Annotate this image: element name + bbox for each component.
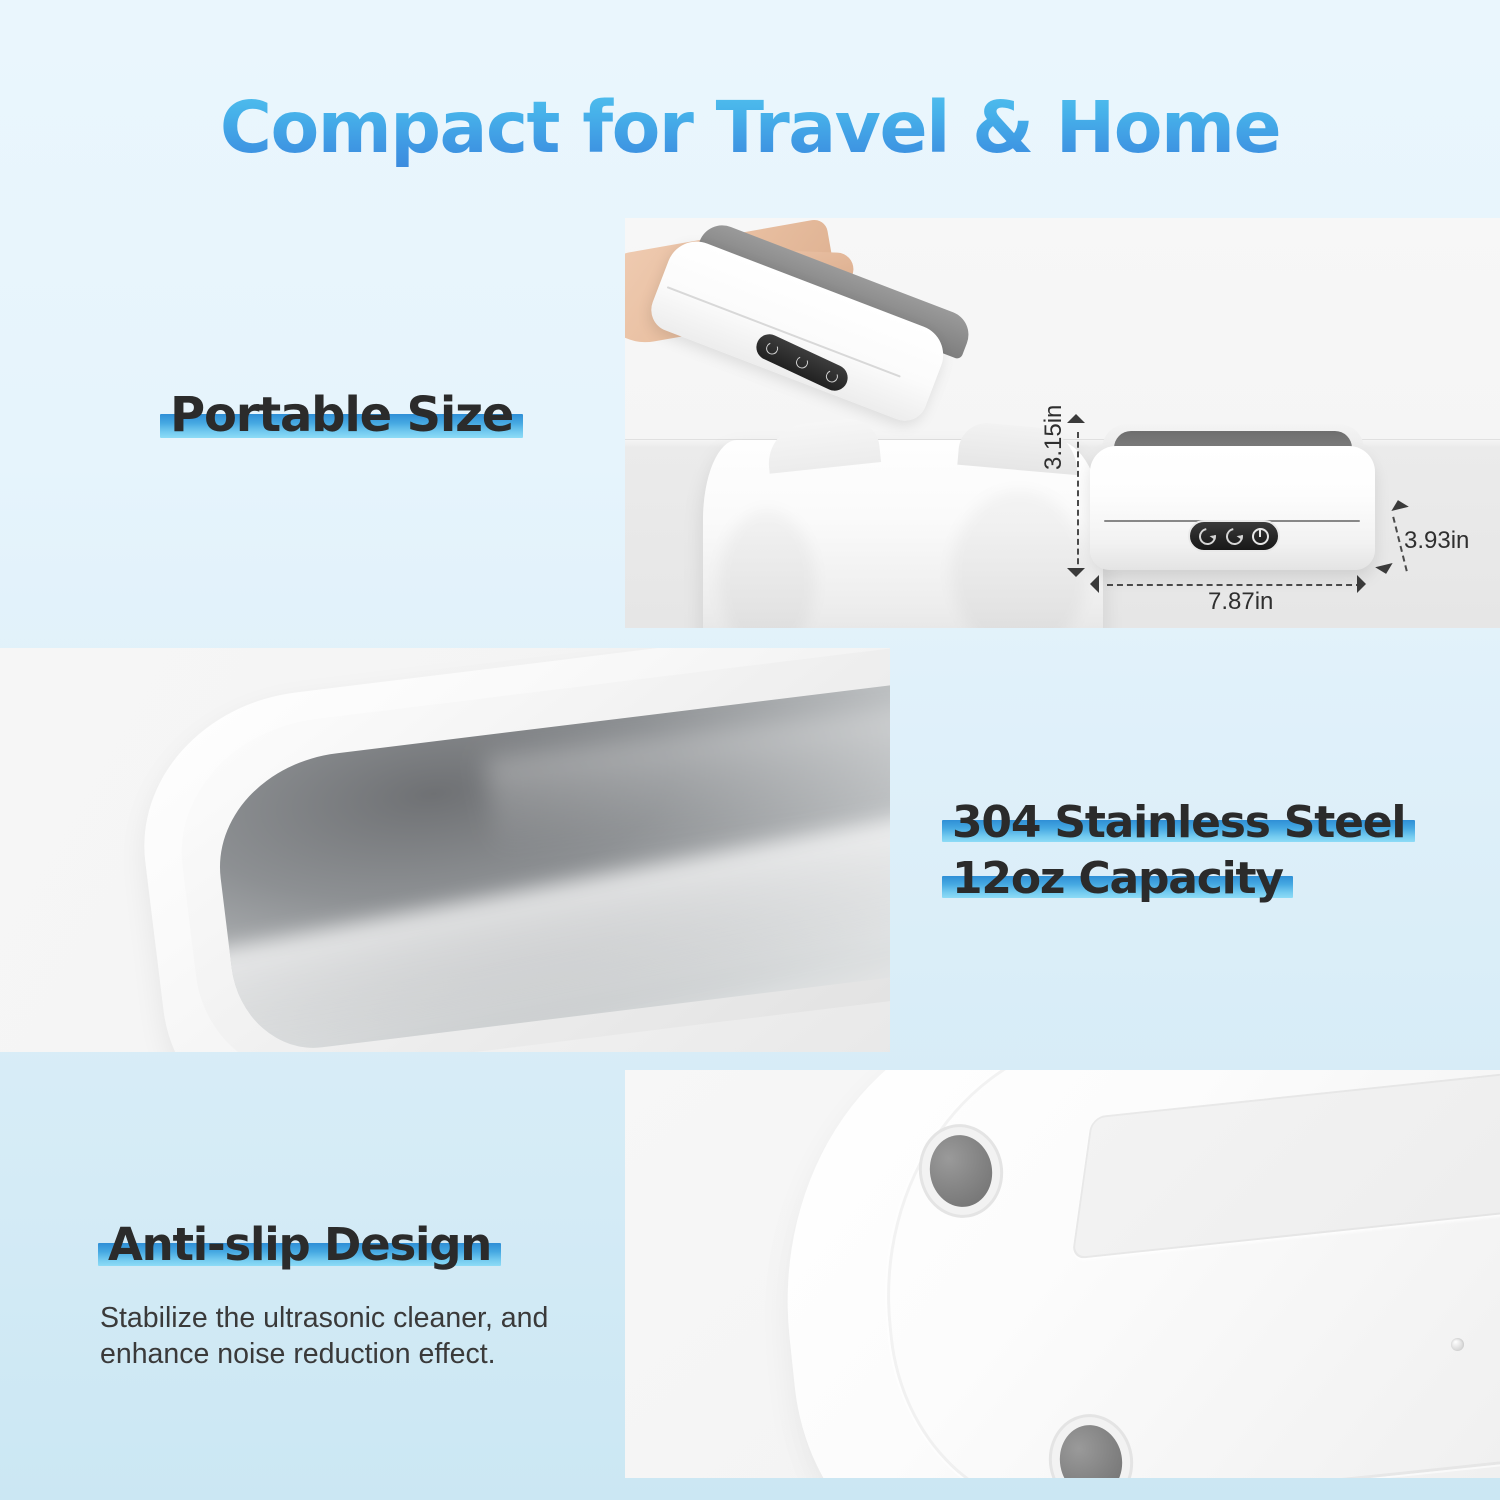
depth-dimension-label: 3.93in bbox=[1404, 527, 1469, 555]
arrow-right-icon bbox=[1357, 575, 1366, 593]
heading-line: Portable Size bbox=[170, 391, 513, 441]
timer-dial-icon bbox=[1222, 524, 1246, 548]
cleaner-device-front-view bbox=[1090, 424, 1375, 570]
portable-size-heading: Portable Size bbox=[170, 391, 513, 441]
description-line: enhance noise reduction effect. bbox=[100, 1336, 620, 1372]
heading-line: Anti-slip Design bbox=[108, 1222, 491, 1269]
arrow-left-icon bbox=[1090, 575, 1099, 593]
width-dimension-label: 7.87in bbox=[1208, 588, 1273, 616]
timer-dial-icon bbox=[794, 355, 810, 371]
stainless-tank-photo: MAX bbox=[0, 648, 890, 1052]
arrow-up-icon bbox=[1067, 414, 1085, 423]
height-dimension-line bbox=[1077, 432, 1079, 574]
stainless-steel-heading: 304 Stainless Steel 12oz Capacity bbox=[952, 800, 1405, 912]
anti-slip-heading: Anti-slip Design bbox=[108, 1222, 491, 1269]
width-dimension-line bbox=[1107, 584, 1362, 586]
description-line: Stabilize the ultrasonic cleaner, and bbox=[100, 1300, 620, 1336]
power-icon bbox=[824, 368, 840, 384]
device-control-panel bbox=[1188, 520, 1280, 552]
screw-hole bbox=[1451, 1338, 1464, 1351]
anti-slip-description: Stabilize the ultrasonic cleaner, and en… bbox=[100, 1300, 620, 1373]
timer-dial-icon bbox=[1196, 524, 1220, 548]
fabric-fold bbox=[719, 510, 815, 628]
heading-line: 12oz Capacity bbox=[952, 856, 1283, 902]
height-dimension-label: 3.15in bbox=[1040, 405, 1068, 470]
timer-dial-icon bbox=[764, 341, 780, 357]
anti-slip-base-photo bbox=[625, 1070, 1500, 1478]
fabric-fold bbox=[951, 491, 1087, 628]
page-title: Compact for Travel & Home bbox=[0, 86, 1500, 169]
power-icon bbox=[1252, 528, 1269, 545]
arrow-down-icon bbox=[1067, 568, 1085, 577]
heading-line: 304 Stainless Steel bbox=[952, 800, 1405, 846]
